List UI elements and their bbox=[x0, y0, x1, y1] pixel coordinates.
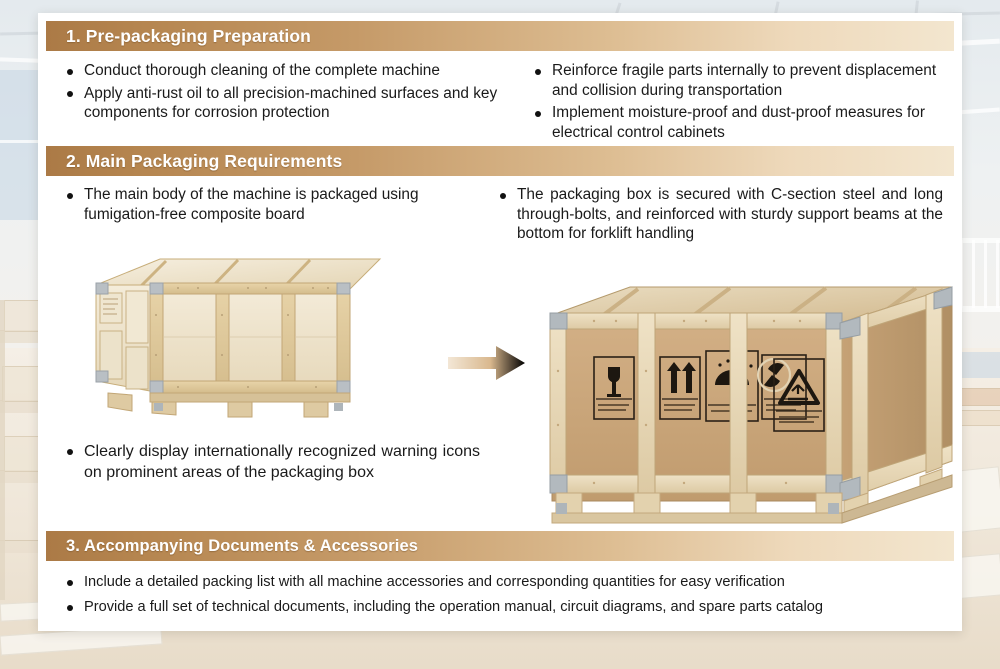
section-header-main-packaging-requirements: 2. Main Packaging Requirements bbox=[46, 146, 954, 176]
section1-left-column: Conduct thorough cleaning of the complet… bbox=[60, 61, 528, 126]
section-title: 1. Pre-packaging Preparation bbox=[46, 26, 311, 47]
list-item: Reinforce fragile parts internally to pr… bbox=[528, 61, 948, 100]
list-item: Apply anti-rust oil to all precision-mac… bbox=[60, 84, 528, 123]
background-baluster bbox=[984, 240, 987, 308]
list-item: Provide a full set of technical document… bbox=[60, 598, 940, 617]
right-arrow-icon bbox=[448, 343, 526, 383]
plywood-shipping-crate bbox=[88, 245, 388, 425]
section2-left-column: The main body of the machine is packaged… bbox=[60, 185, 490, 227]
section2-left-lower-column: Clearly display internationally recogniz… bbox=[60, 441, 480, 486]
list-item: Clearly display internationally recogniz… bbox=[60, 441, 480, 483]
section1-right-column: Reinforce fragile parts internally to pr… bbox=[528, 61, 948, 146]
labelled-shipping-crate bbox=[534, 275, 954, 525]
section2-right-column: The packaging box is secured with C-sect… bbox=[493, 185, 943, 247]
bullet-list: Conduct thorough cleaning of the complet… bbox=[60, 61, 528, 123]
bullet-list: Clearly display internationally recogniz… bbox=[60, 441, 480, 483]
list-item: The packaging box is secured with C-sect… bbox=[493, 185, 943, 244]
background-baluster bbox=[972, 240, 975, 308]
content-card: 1. Pre-packaging Preparation Conduct tho… bbox=[38, 13, 962, 631]
bullet-list: The packaging box is secured with C-sect… bbox=[493, 185, 943, 244]
background-baluster bbox=[996, 240, 999, 308]
list-item: Conduct thorough cleaning of the complet… bbox=[60, 61, 528, 81]
bullet-list: Include a detailed packing list with all… bbox=[60, 573, 940, 616]
bullet-list: Reinforce fragile parts internally to pr… bbox=[528, 61, 948, 143]
list-item: Implement moisture-proof and dust-proof … bbox=[528, 103, 948, 142]
section-title: 2. Main Packaging Requirements bbox=[46, 151, 342, 172]
section-title: 3. Accompanying Documents & Accessories bbox=[46, 537, 418, 556]
section-header-accompanying-documents-accessories: 3. Accompanying Documents & Accessories bbox=[46, 531, 954, 561]
section3-column: Include a detailed packing list with all… bbox=[60, 573, 940, 622]
background-rack-post bbox=[0, 300, 5, 600]
bullet-list: The main body of the machine is packaged… bbox=[60, 185, 490, 224]
list-item: The main body of the machine is packaged… bbox=[60, 185, 490, 224]
list-item: Include a detailed packing list with all… bbox=[60, 573, 940, 592]
section-header-pre-packaging-preparation: 1. Pre-packaging Preparation bbox=[46, 21, 954, 51]
